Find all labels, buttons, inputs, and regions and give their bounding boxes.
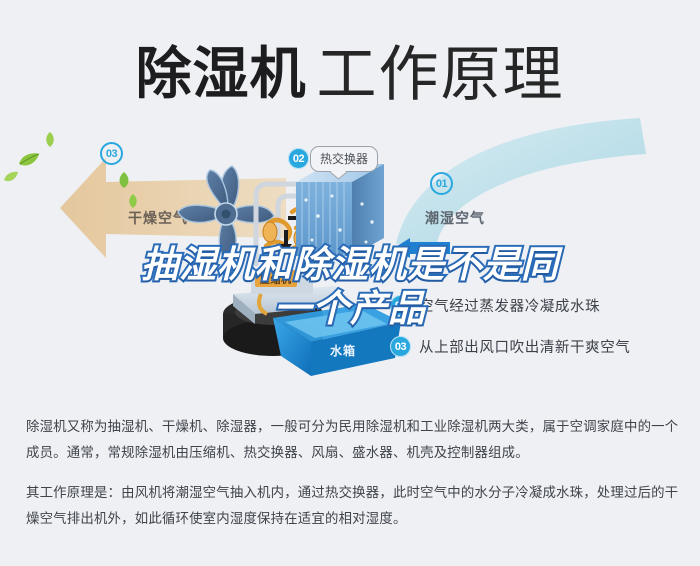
compressor-label: 压缩机 bbox=[255, 270, 297, 287]
step-text: 从上部出风口吹出清新干爽空气 bbox=[419, 336, 630, 357]
heat-exchanger-callout: 热交换器 bbox=[310, 146, 378, 172]
body-copy: 除湿机又称为抽湿机、干燥机、除湿器，一般可分为民用除湿机和工业除湿机两大类，属于… bbox=[26, 414, 686, 546]
process-step-list: 02 空气经过蒸发器冷凝成水珠 03 从上部出风口吹出清新干爽空气 bbox=[390, 295, 690, 377]
intake-arrow-icon bbox=[392, 238, 452, 258]
title-secondary: 工作原理 bbox=[317, 41, 565, 108]
paragraph-definition: 除湿机又称为抽湿机、干燥机、除湿器，一般可分为民用除湿机和工业除湿机两大类，属于… bbox=[26, 414, 686, 466]
badge-03-dry-air: 03 bbox=[100, 142, 123, 165]
leaf-icon bbox=[128, 194, 139, 213]
humid-air-arrow bbox=[390, 118, 650, 248]
compressor-base-unit bbox=[215, 260, 405, 380]
paragraph-principle: 其工作原理是：由风机将潮湿空气抽入机内，通过热交换器，此时空气中的水分子冷凝成水… bbox=[26, 480, 686, 532]
leaf-icon bbox=[118, 172, 131, 193]
process-step: 03 从上部出风口吹出清新干爽空气 bbox=[390, 336, 690, 357]
badge-02-heat-exchanger: 02 bbox=[288, 148, 309, 169]
poster-root: 除湿机工作原理 干燥空气 03 bbox=[0, 0, 700, 566]
heat-exchanger-block bbox=[288, 160, 398, 270]
page-title: 除湿机工作原理 bbox=[0, 26, 700, 113]
process-step: 02 空气经过蒸发器冷凝成水珠 bbox=[390, 295, 690, 316]
leaf-icon bbox=[44, 132, 56, 152]
leaf-icon bbox=[18, 152, 40, 173]
title-primary: 除湿机 bbox=[136, 42, 307, 105]
step-text: 空气经过蒸发器冷凝成水珠 bbox=[419, 295, 600, 316]
leaf-icon bbox=[3, 170, 19, 188]
badge-01-humid-air: 01 bbox=[430, 172, 453, 195]
step-badge: 02 bbox=[390, 295, 411, 316]
step-badge: 03 bbox=[390, 336, 411, 357]
water-tank-label: 水箱 bbox=[330, 342, 356, 359]
humid-air-label: 潮湿空气 bbox=[425, 208, 485, 228]
